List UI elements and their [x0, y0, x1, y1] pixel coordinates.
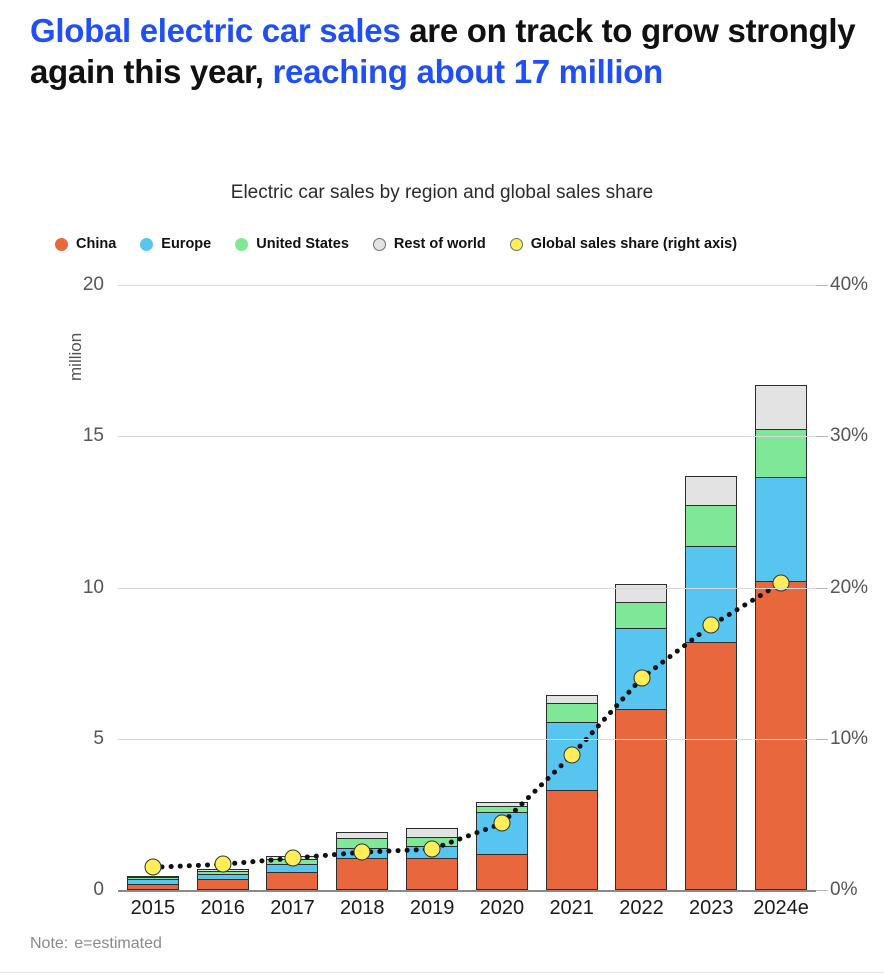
legend-item[interactable]: China	[55, 236, 116, 252]
share-marker[interactable]	[773, 574, 790, 591]
bar-segment[interactable]	[546, 790, 598, 890]
footer-divider	[0, 972, 884, 973]
bar-segment[interactable]	[336, 858, 388, 890]
plot-area: 2015201620172018201920202021202220232024…	[118, 285, 816, 890]
legend-swatch-icon	[373, 238, 386, 251]
bar-segment[interactable]	[755, 477, 807, 583]
legend-swatch-icon	[55, 238, 68, 251]
bar-segment[interactable]	[476, 854, 528, 890]
y-axis-tick-right: 10%	[830, 728, 884, 750]
bar-segment[interactable]	[685, 505, 737, 547]
bar-segment[interactable]	[615, 628, 667, 710]
bar-segment[interactable]	[615, 709, 667, 891]
x-axis-tick: 2015	[118, 897, 188, 920]
gridline	[118, 285, 816, 286]
stacked-bar[interactable]	[406, 829, 458, 890]
y-axis-tick-right: 0%	[830, 879, 884, 901]
gridline	[118, 739, 816, 740]
x-axis-tick: 2023	[676, 897, 746, 920]
legend-swatch-icon	[140, 238, 153, 251]
x-axis-tick: 2016	[188, 897, 258, 920]
chart-note: Note:e=estimated	[30, 935, 162, 953]
legend-label: Rest of world	[394, 236, 486, 252]
x-axis-tick: 2024e	[746, 897, 816, 920]
bar-segment[interactable]	[406, 858, 458, 890]
chart-legend: ChinaEuropeUnited StatesRest of worldGlo…	[55, 236, 761, 252]
stacked-bar[interactable]	[197, 870, 249, 890]
y-axis-label: million	[66, 333, 86, 381]
stacked-bar[interactable]	[546, 696, 598, 890]
headline-part-1: Global electric car sales	[30, 12, 400, 49]
share-marker[interactable]	[563, 747, 580, 764]
x-axis-tick: 2017	[258, 897, 328, 920]
y-axis-tick-right: 30%	[830, 425, 884, 447]
note-text: e=estimated	[74, 935, 162, 952]
stacked-bar[interactable]	[336, 833, 388, 890]
legend-label: United States	[256, 236, 349, 252]
chart-subtitle: Electric car sales by region and global …	[0, 182, 884, 204]
right-axis-tickmark	[816, 890, 828, 891]
right-axis-tickmark	[816, 436, 828, 437]
y-axis-tick-left: 20	[44, 274, 104, 296]
share-marker[interactable]	[284, 850, 301, 867]
note-label: Note:	[30, 935, 68, 952]
headline-part-3: reaching about 17 million	[273, 53, 663, 90]
legend-item[interactable]: Global sales share (right axis)	[510, 236, 737, 252]
legend-swatch-icon	[235, 238, 248, 251]
y-axis-tick-left: 15	[44, 425, 104, 447]
y-axis-tick-right: 40%	[830, 274, 884, 296]
share-marker[interactable]	[424, 841, 441, 858]
bar-segment[interactable]	[197, 879, 249, 890]
y-axis-tick-left: 0	[44, 879, 104, 901]
x-axis-tick: 2018	[327, 897, 397, 920]
share-marker[interactable]	[144, 859, 161, 876]
legend-item[interactable]: Rest of world	[373, 236, 486, 252]
gridline	[118, 588, 816, 589]
stacked-bar[interactable]	[127, 877, 179, 890]
x-axis-tick: 2019	[397, 897, 467, 920]
share-marker[interactable]	[633, 670, 650, 687]
share-marker[interactable]	[214, 856, 231, 873]
right-axis-tickmark	[816, 285, 828, 286]
page-headline: Global electric car sales are on track t…	[30, 10, 860, 92]
share-marker[interactable]	[703, 617, 720, 634]
y-axis-tick-left: 10	[44, 577, 104, 599]
legend-label: Global sales share (right axis)	[531, 236, 737, 252]
legend-label: China	[76, 236, 116, 252]
x-axis-tick: 2021	[537, 897, 607, 920]
bar-segment[interactable]	[685, 642, 737, 890]
x-axis-line	[118, 890, 816, 892]
bar-segment[interactable]	[546, 703, 598, 723]
legend-label: Europe	[161, 236, 211, 252]
bar-segment[interactable]	[755, 581, 807, 890]
bar-segment[interactable]	[266, 872, 318, 890]
right-axis-tickmark	[816, 739, 828, 740]
share-marker[interactable]	[493, 815, 510, 832]
y-axis-tick-right: 20%	[830, 577, 884, 599]
right-axis-tickmark	[816, 588, 828, 589]
bar-segment[interactable]	[615, 602, 667, 629]
stacked-bar[interactable]	[615, 585, 667, 890]
chart-area: million 20152016201720182019202020212022…	[0, 270, 884, 910]
legend-item[interactable]: Europe	[140, 236, 211, 252]
bar-segment[interactable]	[755, 385, 807, 430]
stacked-bar[interactable]	[685, 477, 737, 890]
gridline	[118, 436, 816, 437]
legend-item[interactable]: United States	[235, 236, 349, 252]
share-marker[interactable]	[354, 844, 371, 861]
y-axis-tick-left: 5	[44, 728, 104, 750]
x-axis-tick: 2020	[467, 897, 537, 920]
x-axis-tick: 2022	[607, 897, 677, 920]
stacked-bar[interactable]	[755, 386, 807, 890]
y-axis-label-wrap: million	[46, 285, 70, 405]
legend-swatch-icon	[510, 238, 523, 251]
bar-segment[interactable]	[685, 476, 737, 506]
